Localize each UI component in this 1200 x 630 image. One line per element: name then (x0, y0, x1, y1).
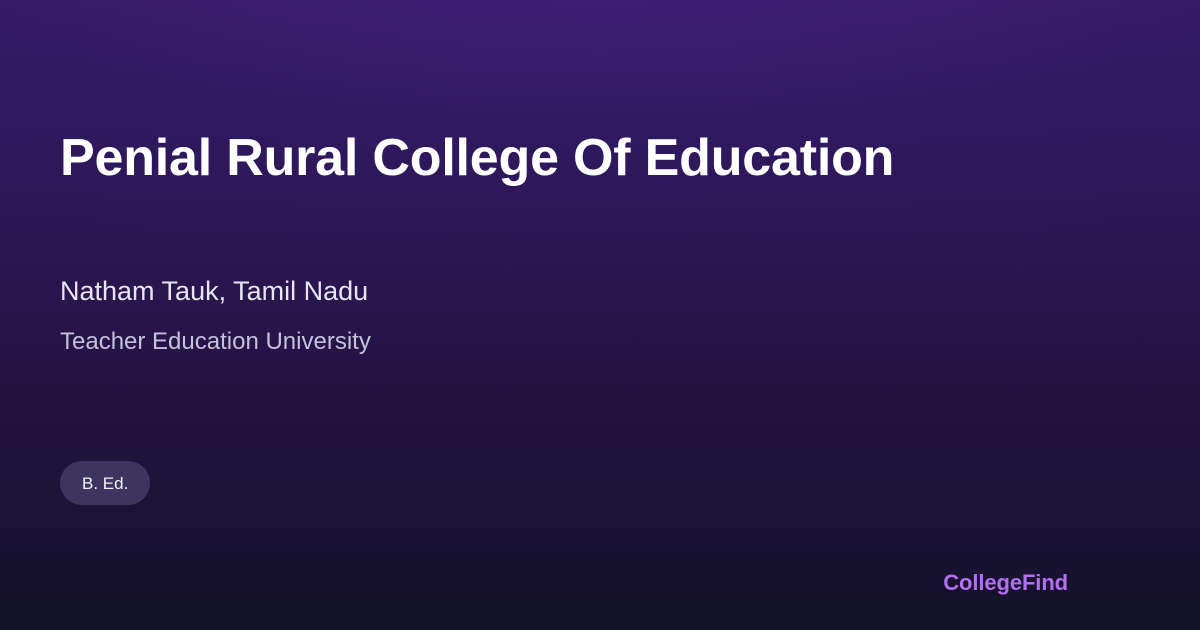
course-tag-b-ed: B. Ed. (60, 461, 150, 505)
institution-type: Teacher Education University (60, 327, 371, 357)
page-title: Penial Rural College Of Education (60, 128, 1120, 188)
brand-logo-text: CollegeFind (943, 570, 1068, 596)
college-location: Natham Tauk, Tamil Nadu (60, 274, 368, 308)
college-share-card: Penial Rural College Of Education Natham… (0, 0, 1200, 630)
tag-list: B. Ed. (60, 461, 150, 505)
card-content: Penial Rural College Of Education Natham… (0, 0, 1200, 630)
